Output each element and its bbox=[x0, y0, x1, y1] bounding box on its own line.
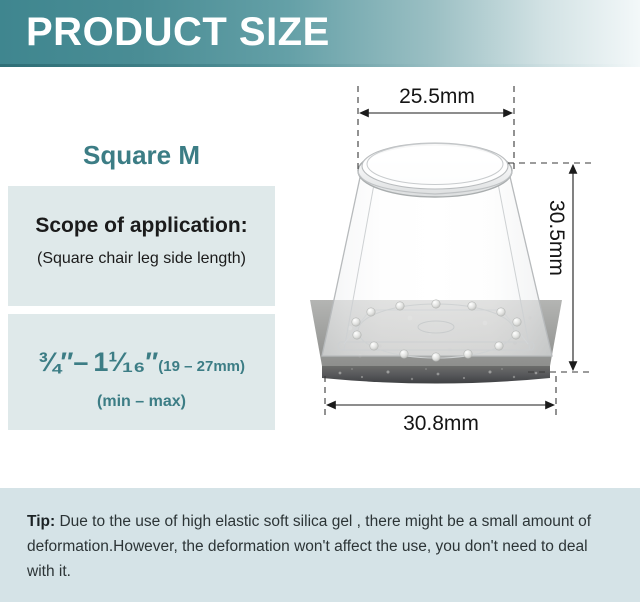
height-label: 30.5mm bbox=[544, 200, 568, 276]
tip-body: Due to the use of high elastic soft sili… bbox=[27, 513, 591, 580]
tip-box: Tip: Due to the use of high elastic soft… bbox=[0, 488, 640, 602]
tip-text: Tip: Due to the use of high elastic soft… bbox=[27, 509, 615, 584]
bottom-width-label: 30.8mm bbox=[325, 412, 557, 436]
tip-label: Tip: bbox=[27, 513, 55, 530]
top-width-label: 25.5mm bbox=[358, 85, 516, 109]
